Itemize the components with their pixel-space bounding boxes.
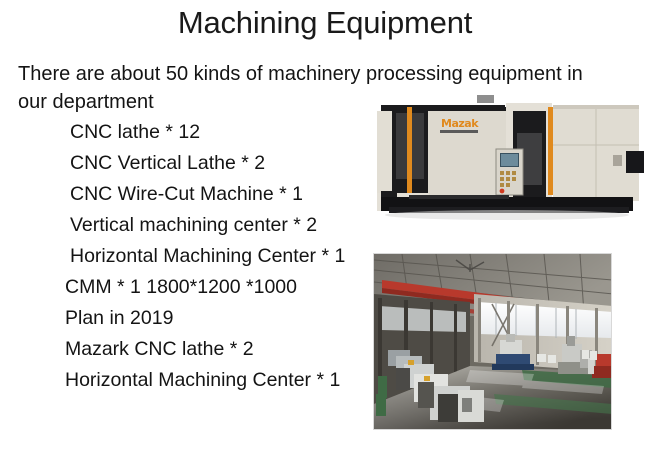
factory-workshop-photo [373, 253, 612, 430]
page-title: Machining Equipment [0, 4, 650, 43]
mazak-cnc-machine-photo: Mazak [367, 93, 646, 227]
machine-illustration: Mazak [367, 93, 646, 227]
slide-machining-equipment: Machining Equipment There are about 50 k… [0, 0, 650, 470]
svg-text:Mazak: Mazak [441, 117, 479, 130]
workshop-illustration [374, 254, 612, 430]
